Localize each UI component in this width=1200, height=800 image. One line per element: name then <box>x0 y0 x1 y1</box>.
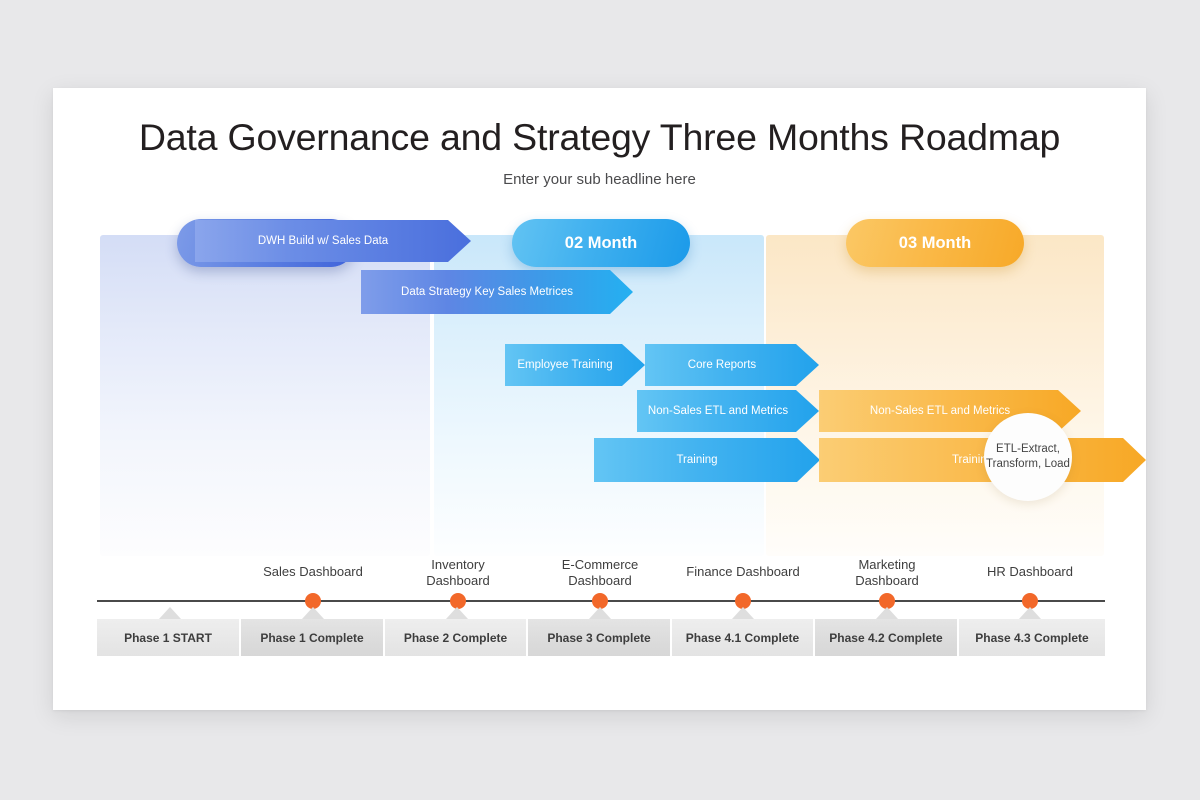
task-arrow-label: Non-Sales ETL and Metrics <box>870 404 1010 419</box>
phase-box[interactable]: Phase 4.2 Complete <box>815 619 957 656</box>
phase-pointer-icon <box>1019 607 1041 619</box>
task-arrow[interactable]: Training <box>594 438 820 482</box>
month-badge-label: 02 Month <box>565 234 637 253</box>
task-arrow-label: Core Reports <box>688 358 756 373</box>
phase-pointer-icon <box>876 607 898 619</box>
milestone-label: E-Commerce Dashboard <box>525 557 675 589</box>
phase-box-label: Phase 3 Complete <box>547 631 650 645</box>
phase-box-label: Phase 4.3 Complete <box>975 631 1088 645</box>
phase-box[interactable]: Phase 1 START <box>97 619 239 656</box>
month-badge-label: 03 Month <box>899 234 971 253</box>
task-arrow-label: Non-Sales ETL and Metrics <box>648 404 788 419</box>
phase-pointer-icon <box>302 607 324 619</box>
phase-box-label: Phase 2 Complete <box>404 631 507 645</box>
milestone-label: Marketing Dashboard <box>812 557 962 589</box>
phase-box-label: Phase 1 START <box>124 631 212 645</box>
task-arrow-label: DWH Build w/ Sales Data <box>258 234 388 249</box>
month-badge-3[interactable]: 03 Month <box>846 219 1024 267</box>
slide-canvas: Data Governance and Strategy Three Month… <box>53 88 1146 710</box>
task-arrow[interactable]: Non-Sales ETL and Metrics <box>637 390 819 432</box>
task-arrow-label: Training <box>676 453 717 468</box>
phase-box[interactable]: Phase 1 Complete <box>241 619 383 656</box>
phase-pointer-icon <box>446 607 468 619</box>
phase-pointer-icon <box>732 607 754 619</box>
phase-box[interactable]: Phase 4.3 Complete <box>959 619 1105 656</box>
phase-pointer-icon <box>159 607 181 619</box>
etl-callout-circle[interactable]: ETL-Extract, Transform, Load <box>984 413 1072 501</box>
page-title: Data Governance and Strategy Three Month… <box>53 116 1146 159</box>
task-arrow-label: Employee Training <box>517 358 612 373</box>
milestone-label: HR Dashboard <box>955 564 1105 580</box>
task-arrow-label: Data Strategy Key Sales Metrices <box>401 285 573 300</box>
phase-box-label: Phase 4.2 Complete <box>829 631 942 645</box>
milestone-label: Finance Dashboard <box>668 564 818 580</box>
etl-callout-label: ETL-Extract, Transform, Load <box>984 442 1072 472</box>
task-arrow[interactable]: DWH Build w/ Sales Data <box>195 220 471 262</box>
month-badge-2[interactable]: 02 Month <box>512 219 690 267</box>
phase-box-label: Phase 1 Complete <box>260 631 363 645</box>
page-subtitle: Enter your sub headline here <box>53 171 1146 188</box>
task-arrow[interactable]: Core Reports <box>645 344 819 386</box>
phase-box-label: Phase 4.1 Complete <box>686 631 799 645</box>
phase-box[interactable]: Phase 2 Complete <box>385 619 526 656</box>
phase-box[interactable]: Phase 3 Complete <box>528 619 670 656</box>
task-arrow[interactable]: Training <box>819 438 1146 482</box>
task-arrow[interactable]: Employee Training <box>505 344 645 386</box>
milestone-label: Inventory Dashboard <box>383 557 533 589</box>
phase-box[interactable]: Phase 4.1 Complete <box>672 619 813 656</box>
phase-pointer-icon <box>589 607 611 619</box>
task-arrow[interactable]: Data Strategy Key Sales Metrices <box>361 270 633 314</box>
milestone-label: Sales Dashboard <box>238 564 388 580</box>
